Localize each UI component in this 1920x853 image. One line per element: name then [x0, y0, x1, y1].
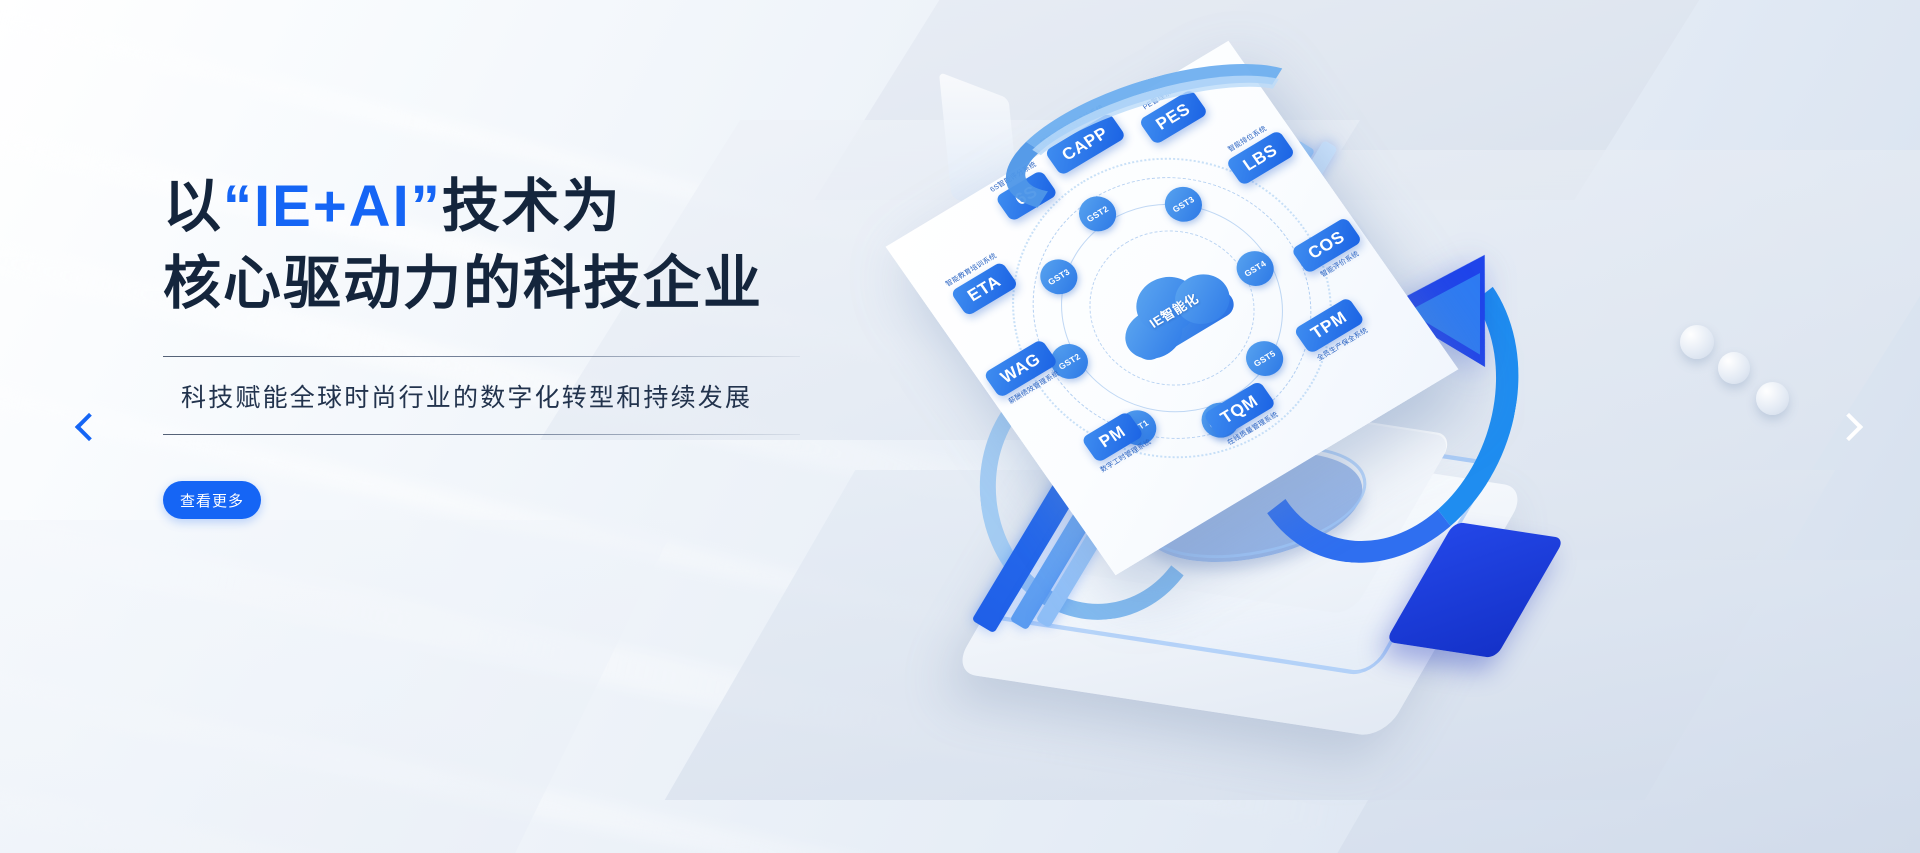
hero-banner: 以“IE+AI”技术为 核心驱动力的科技企业 科技赋能全球时尚行业的数字化转型和…: [0, 0, 1920, 853]
headline: 以“IE+AI”技术为 核心驱动力的科技企业: [163, 168, 863, 322]
headline-accent: IE+AI: [254, 174, 411, 239]
headline-line-2: 核心驱动力的科技企业: [163, 245, 863, 322]
decor-sphere: [1756, 382, 1789, 415]
headline-line-1: 以“IE+AI”技术为: [163, 168, 863, 245]
decor-sphere: [1680, 325, 1714, 359]
headline-prefix: 以: [163, 174, 223, 239]
background-terrace: [0, 520, 678, 853]
carousel-prev-button[interactable]: [66, 404, 112, 450]
headline-suffix: 技术为: [442, 174, 622, 239]
divider-bottom: [163, 434, 800, 435]
hero-copy: 以“IE+AI”技术为 核心驱动力的科技企业 科技赋能全球时尚行业的数字化转型和…: [163, 168, 863, 519]
divider-top: [163, 356, 800, 357]
chevron-left-icon: [75, 412, 103, 440]
quote-open: “: [223, 174, 254, 239]
quote-close: ”: [411, 174, 442, 239]
view-more-button[interactable]: 查看更多: [163, 481, 261, 519]
subtitle: 科技赋能全球时尚行业的数字化转型和持续发展: [163, 357, 863, 434]
hero-illustration: IE智能化 GST2 GST3 GST4 GST5 GST6 GST1 GST2…: [1030, 60, 1880, 780]
decor-sphere: [1718, 352, 1750, 384]
